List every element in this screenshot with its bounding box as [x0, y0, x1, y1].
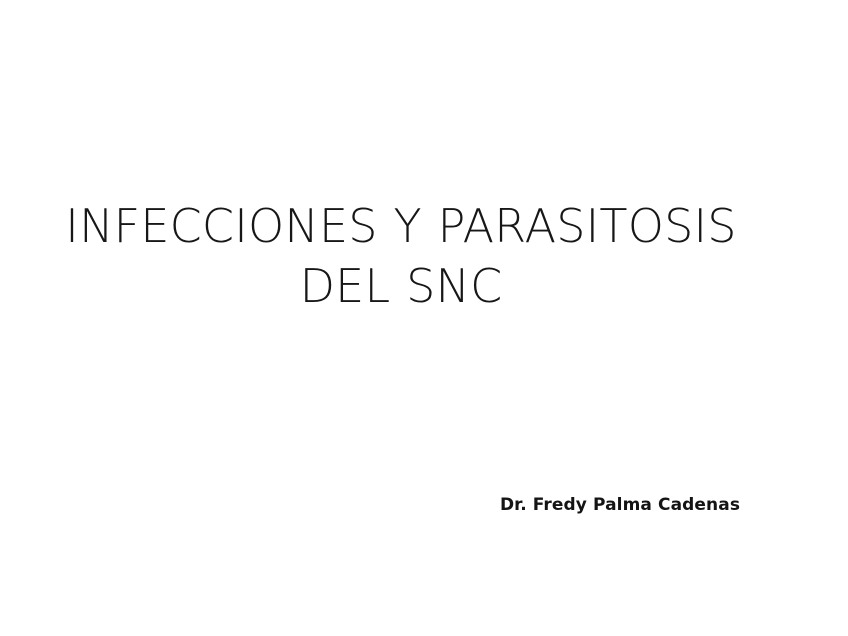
slide-subtitle-text: Dr. Fredy Palma Cadenas: [500, 494, 740, 516]
slide-title-text: INFECCIONES Y PARASITOSIS DEL SNC: [52, 196, 750, 316]
slide-canvas: INFECCIONES Y PARASITOSIS DEL SNC Dr. Fr…: [0, 0, 848, 636]
slide-title: INFECCIONES Y PARASITOSIS DEL SNC: [52, 196, 750, 316]
slide-subtitle: Dr. Fredy Palma Cadenas: [420, 494, 820, 516]
